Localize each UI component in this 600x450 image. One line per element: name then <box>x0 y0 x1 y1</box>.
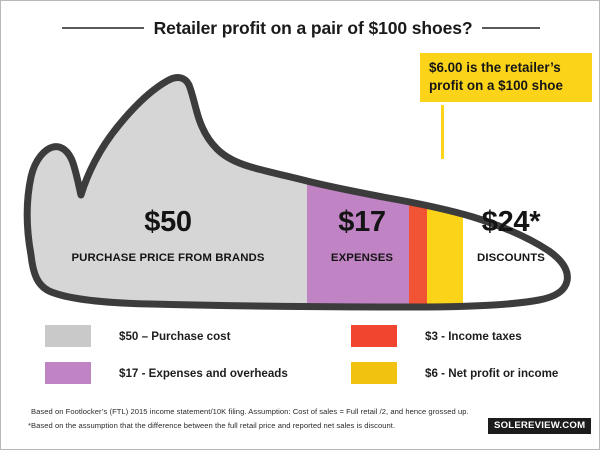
title-text: Retailer profit on a pair of $100 shoes? <box>154 18 473 39</box>
shoe-band-net-profit <box>427 45 463 313</box>
legend-label: $50 – Purchase cost <box>119 330 231 343</box>
brand-watermark: SOLEREVIEW.COM <box>488 418 591 434</box>
segment-label-discounts: $24* DISCOUNTS <box>443 208 579 264</box>
legend-swatch-yellow <box>351 362 397 384</box>
legend-item-purchase-cost: $50 – Purchase cost <box>45 325 231 347</box>
segment-caption: EXPENSES <box>313 253 411 264</box>
shoe-diagram <box>1 45 600 313</box>
segment-amount: $24* <box>443 208 579 237</box>
legend-label: $6 - Net profit or income <box>425 367 558 380</box>
legend: $50 – Purchase cost $17 - Expenses and o… <box>1 325 600 387</box>
title-rule-right <box>482 27 540 29</box>
shoe-band-income-taxes <box>409 45 427 313</box>
segment-amount: $50 <box>37 208 299 237</box>
legend-swatch-red <box>351 325 397 347</box>
segment-caption: PURCHASE PRICE FROM BRANDS <box>37 253 299 264</box>
infographic-canvas: Retailer profit on a pair of $100 shoes?… <box>0 0 600 450</box>
legend-label: $3 - Income taxes <box>425 330 522 343</box>
legend-item-net-profit: $6 - Net profit or income <box>351 362 558 384</box>
segment-amount: $17 <box>313 208 411 237</box>
segment-caption: DISCOUNTS <box>443 253 579 264</box>
segment-label-purchase-cost: $50 PURCHASE PRICE FROM BRANDS <box>37 208 299 264</box>
shoe-band-purchase-cost <box>1 45 307 313</box>
legend-swatch-purple <box>45 362 91 384</box>
shoe-band-expenses <box>307 45 409 313</box>
title-rule-left <box>62 27 144 29</box>
footnote-discount-assumption: *Based on the assumption that the differ… <box>28 421 395 430</box>
legend-label: $17 - Expenses and overheads <box>119 367 288 380</box>
segment-label-expenses: $17 EXPENSES <box>313 208 411 264</box>
shoe-silhouette-svg <box>1 45 600 313</box>
legend-item-expenses: $17 - Expenses and overheads <box>45 362 288 384</box>
page-title: Retailer profit on a pair of $100 shoes? <box>1 15 600 41</box>
legend-swatch-gray <box>45 325 91 347</box>
footnote-source: Based on Footlocker’s (FTL) 2015 income … <box>31 407 469 416</box>
legend-item-income-taxes: $3 - Income taxes <box>351 325 522 347</box>
